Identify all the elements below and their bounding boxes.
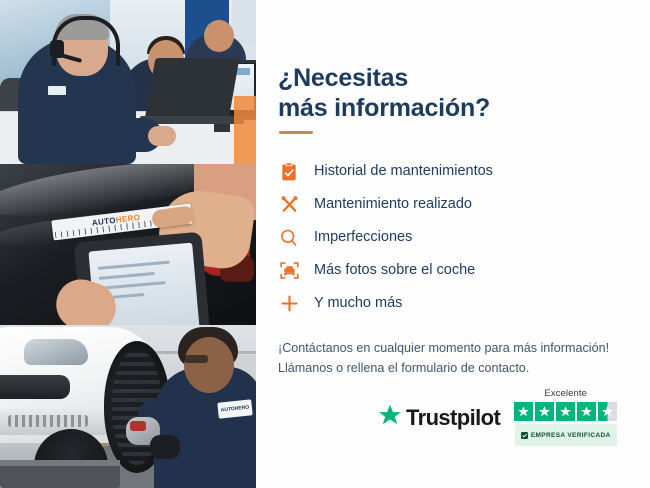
background-colleague-head	[204, 20, 234, 52]
trustpilot-wordmark: Trustpilot	[406, 405, 500, 431]
verified-company-label: EMPRESA VERIFICADA	[531, 432, 611, 439]
feature-item-much-more: Y mucho más	[278, 287, 608, 320]
orange-equipment	[234, 96, 256, 164]
feature-label: Y mucho más	[314, 296, 402, 311]
page-title-line-2: más información?	[278, 94, 490, 122]
star-filled	[556, 402, 575, 421]
main-agent-hand	[148, 126, 176, 146]
star-filled	[577, 402, 596, 421]
photo-mechanic-wheel-check: AUTOHERO	[0, 325, 256, 488]
feature-item-imperfections: Imperfecciones	[278, 221, 608, 254]
star-filled	[535, 402, 554, 421]
car-bumper-vent	[8, 415, 88, 427]
mechanic-head	[184, 337, 234, 393]
title-divider	[279, 131, 313, 134]
contact-message-line-2: Llámanos o rellena el formulario de cont…	[278, 361, 529, 375]
star-half	[598, 402, 617, 421]
content-panel: ¿Necesitas más información? Historial de…	[256, 0, 650, 488]
verified-check-icon	[521, 426, 528, 444]
feature-label: Más fotos sobre el coche	[314, 263, 475, 278]
trustpilot-score-block: Excelente EMPRESA VERIFICADA	[514, 388, 617, 446]
mechanic-second-glove	[150, 435, 180, 459]
car-headlight	[24, 339, 88, 365]
magnifier-icon	[278, 227, 300, 249]
contact-information-banner: AUTOHERO	[0, 0, 650, 488]
clipboard-check-icon	[278, 161, 300, 183]
car-scan-icon	[278, 260, 300, 282]
tablet-text-line	[98, 261, 170, 270]
photo-call-center-agents	[0, 0, 256, 164]
trustpilot-rating-label: Excelente	[544, 388, 587, 399]
safety-glasses	[184, 355, 208, 363]
laptop-screen	[145, 58, 240, 120]
car-lift-edge	[0, 460, 120, 466]
feature-item-maintenance-history: Historial de mantenimientos	[278, 155, 608, 188]
contact-message: ¡Contáctanos en cualquier momento para m…	[278, 338, 648, 378]
feature-label: Mantenimiento realizado	[314, 197, 472, 212]
trustpilot-logo[interactable]: Trustpilot	[378, 403, 500, 446]
trustpilot-star-icon	[378, 403, 402, 432]
car-grille	[0, 375, 70, 399]
contact-message-line-1: ¡Contáctanos en cualquier momento para m…	[278, 341, 609, 355]
agent-name-badge	[48, 86, 66, 95]
tools-cross-icon	[278, 194, 300, 216]
plus-icon	[278, 293, 300, 315]
page-title: ¿Necesitas más información?	[278, 63, 528, 123]
feature-label: Imperfecciones	[314, 230, 412, 245]
wall-poster	[232, 0, 256, 44]
tablet-text-line	[99, 272, 155, 280]
tablet-text-line	[100, 281, 166, 290]
feature-item-maintenance-done: Mantenimiento realizado	[278, 188, 608, 221]
feature-label: Historial de mantenimientos	[314, 164, 493, 179]
feature-list: Historial de mantenimientos Mantenimient…	[278, 155, 608, 320]
mechanic-tool	[130, 421, 146, 431]
trustpilot-stars	[514, 402, 617, 421]
trustpilot-rating[interactable]: Trustpilot Excelente	[378, 388, 617, 446]
star-filled	[514, 402, 533, 421]
feature-item-more-photos: Más fotos sobre el coche	[278, 254, 608, 287]
photo-column: AUTOHERO	[0, 0, 256, 488]
verified-company-badge: EMPRESA VERIFICADA	[515, 424, 617, 446]
page-title-line-1: ¿Necesitas	[278, 64, 408, 92]
photo-car-inspection: AUTOHERO	[0, 164, 256, 325]
